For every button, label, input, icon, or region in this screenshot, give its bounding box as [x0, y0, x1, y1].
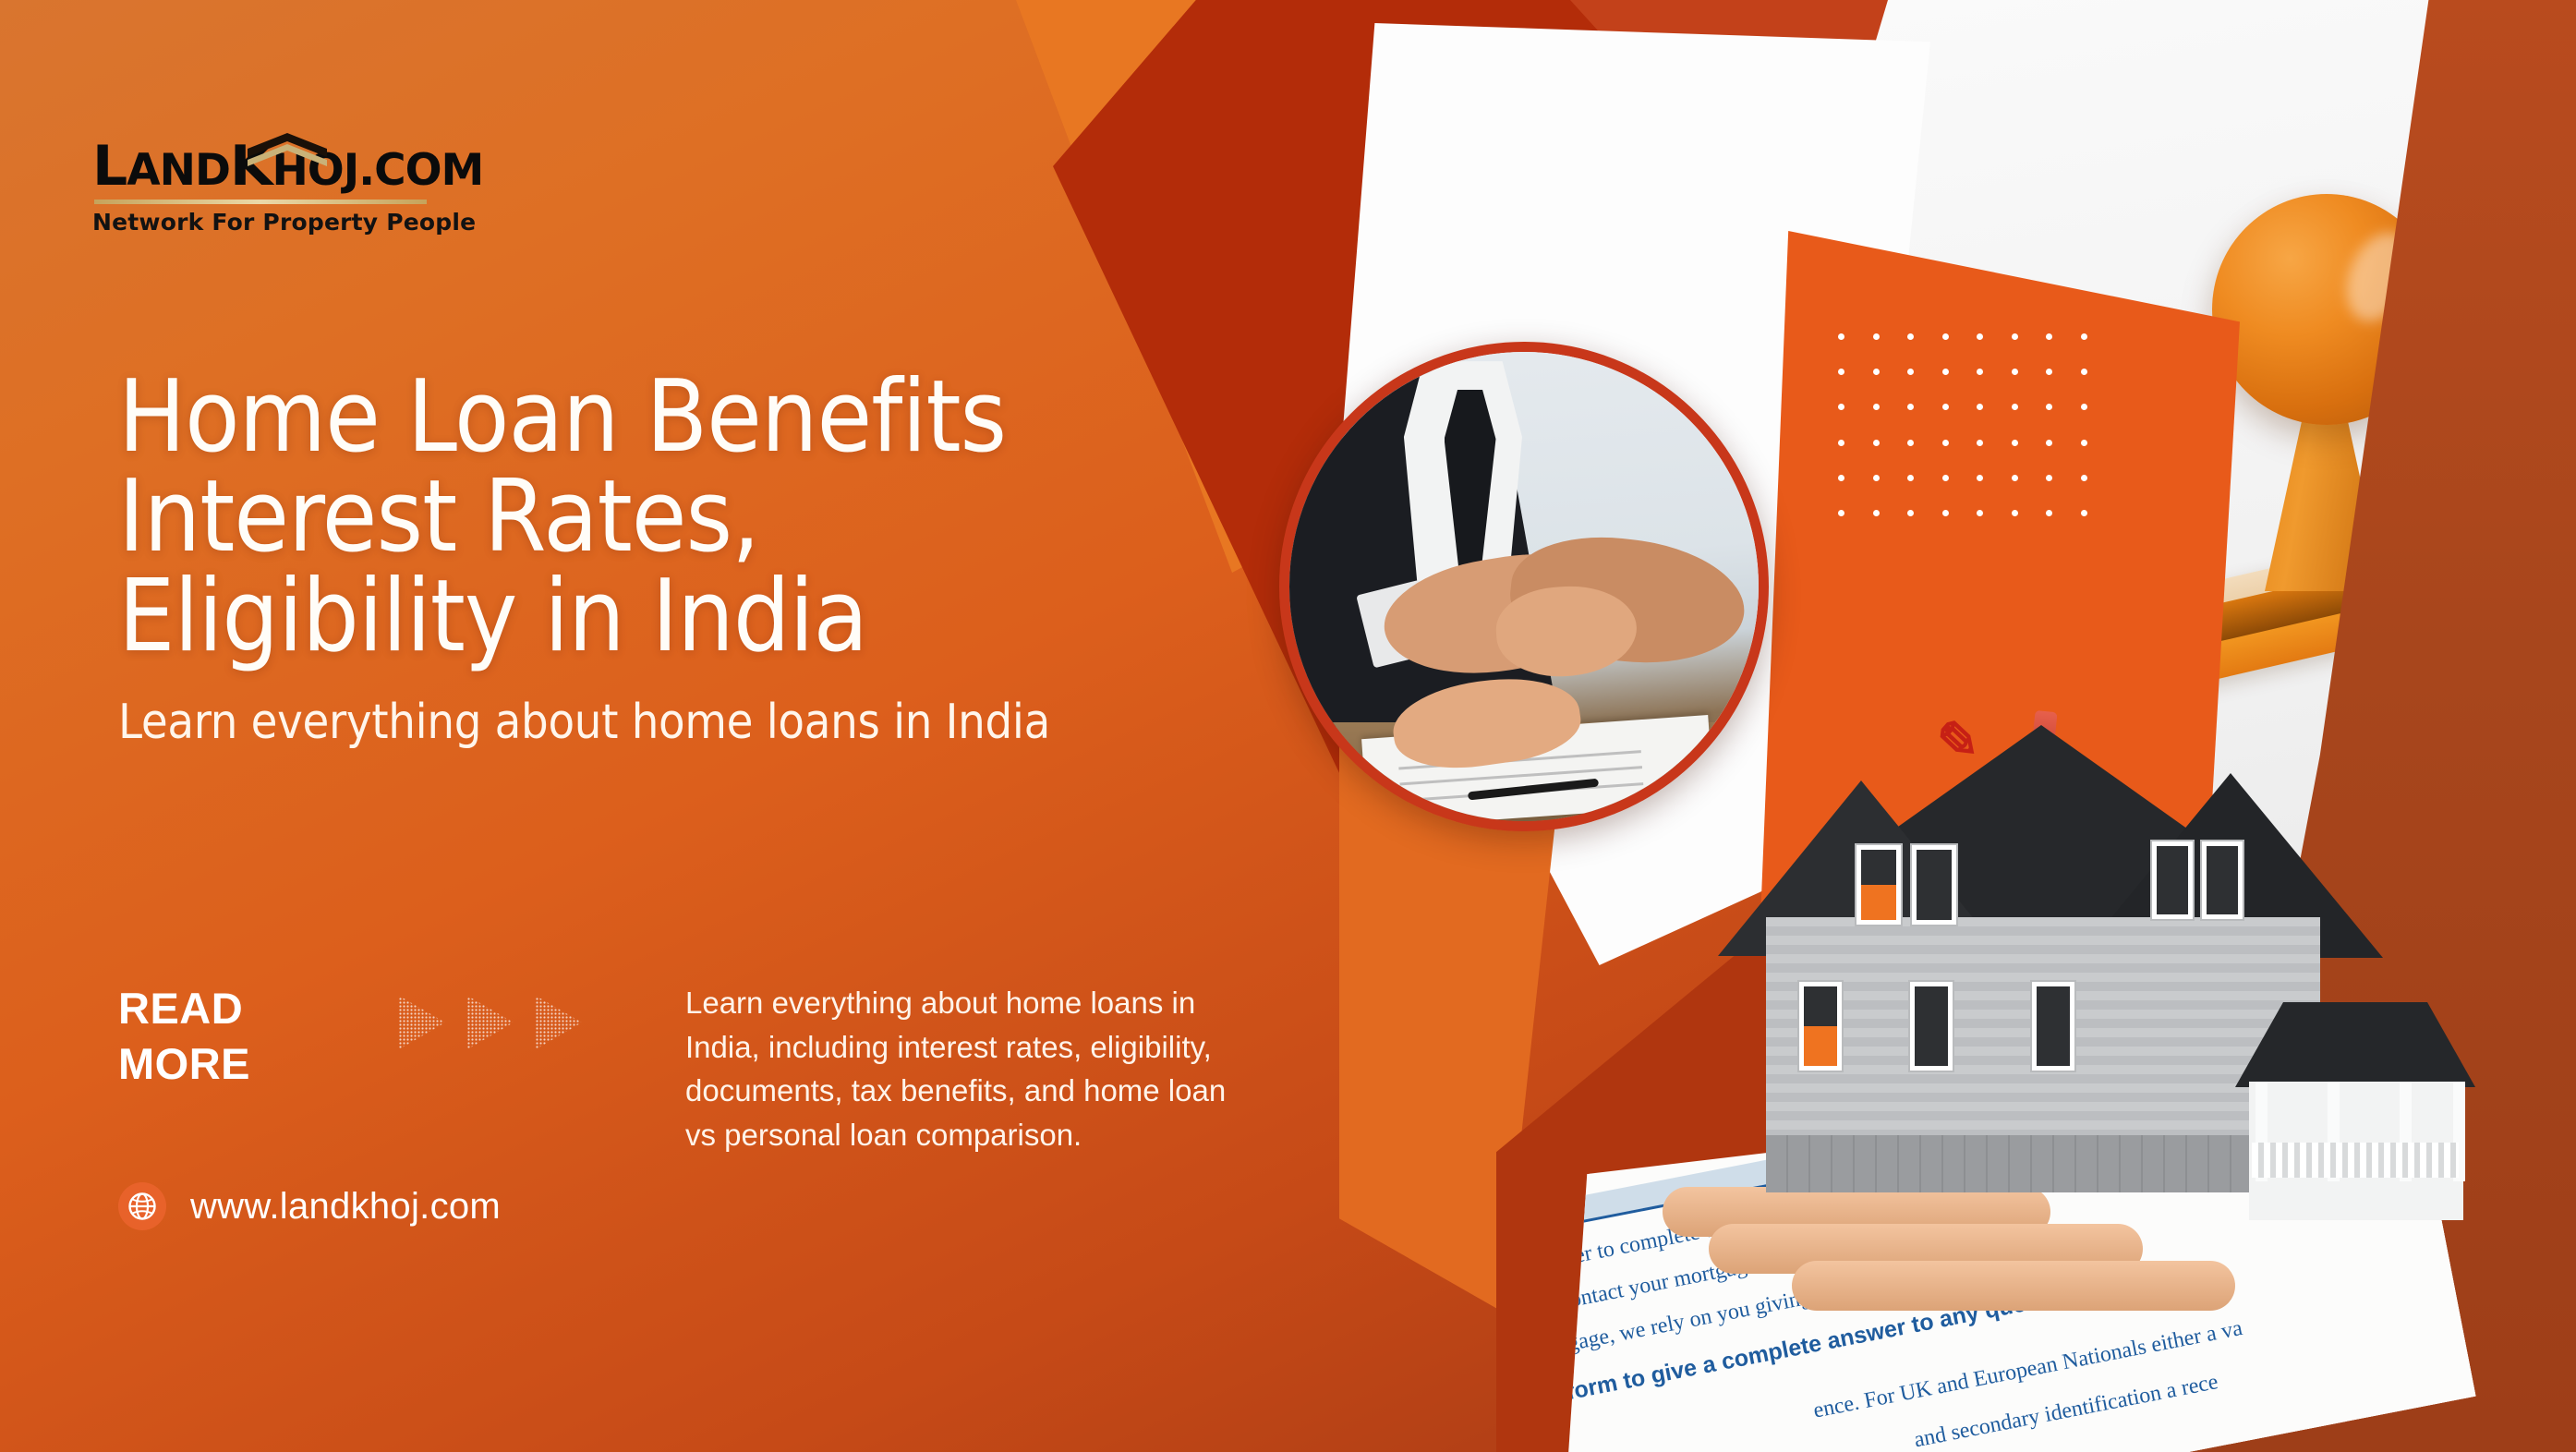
hero-copy: Home Loan Benefits Interest Rates, Eligi…: [118, 368, 1337, 750]
handshake-photo-circle: [1279, 342, 1769, 831]
house-window: [1856, 845, 1901, 925]
logo-word-and: AND: [127, 145, 230, 196]
headline-line-2: Interest Rates,: [118, 467, 1337, 567]
house-window: [1910, 982, 1953, 1071]
arrow-group: [395, 994, 584, 1051]
handshake-photo: [1289, 352, 1759, 821]
headline-line-1: Home Loan Benefits: [118, 368, 1337, 467]
page-title: Home Loan Benefits Interest Rates, Eligi…: [118, 368, 1337, 667]
finger: [1792, 1261, 2235, 1311]
house-foundation: [1766, 1135, 2320, 1192]
chevron-right-halftone-icon: [395, 994, 447, 1051]
headline-line-3: Eligibility in India: [118, 567, 1337, 667]
house-window: [2152, 841, 2193, 919]
porch-railing: [2252, 1143, 2459, 1178]
house-window: [1912, 845, 1956, 925]
logo-word-l: L: [92, 134, 127, 199]
read-more-line-1: READ: [118, 981, 395, 1036]
house-window: [1799, 982, 1842, 1071]
body-description: Learn everything about home loans in Ind…: [685, 981, 1230, 1156]
chevron-right-halftone-icon: [464, 994, 515, 1051]
logo-underline: [94, 200, 427, 204]
read-more-button[interactable]: READ MORE: [118, 981, 395, 1091]
globe-icon: [118, 1182, 166, 1230]
chevron-right-halftone-icon: [532, 994, 584, 1051]
house-window: [2202, 841, 2243, 919]
brand-logo[interactable]: LANDKHOJ.COM Network For Property People: [92, 139, 536, 236]
read-more-line-2: MORE: [118, 1036, 395, 1092]
house-window: [2032, 982, 2074, 1071]
model-house: [1718, 725, 2475, 1242]
house-roof-chevron-icon: [248, 133, 327, 166]
hero-subheadline: Learn everything about home loans in Ind…: [118, 695, 1337, 750]
dot-grid-pattern: [1824, 319, 2101, 531]
website-row[interactable]: www.landkhoj.com: [118, 1182, 501, 1230]
website-url[interactable]: www.landkhoj.com: [190, 1186, 501, 1228]
logo-tagline: Network For Property People: [92, 209, 536, 236]
cta-row: READ MORE Learn everything about home lo…: [118, 981, 1559, 1156]
promo-banner: mber to complete the refer se contact yo…: [0, 0, 2576, 1452]
